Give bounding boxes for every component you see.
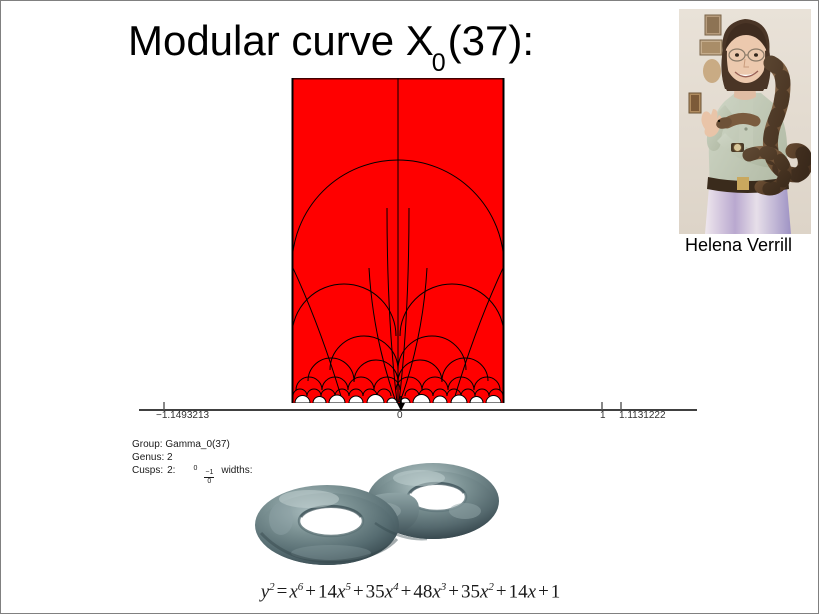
- equation-term-2-coef: 35: [366, 581, 385, 602]
- equation-term-0-var: x: [289, 581, 297, 602]
- genus-2-surface: [251, 453, 511, 571]
- equation-term-4-coef: 35: [461, 581, 480, 602]
- equation-term-3-var: x: [432, 581, 440, 602]
- equation-term-3-coef: 48: [413, 581, 432, 602]
- title-prefix: Modular curve X: [128, 17, 434, 64]
- cusps-value: 2:: [167, 464, 175, 477]
- curve-equation: y2=x6+14x5+35x4+48x3+35x2+14x+1: [1, 581, 819, 603]
- real-axis: [131, 396, 701, 432]
- cusp-fraction-numerator: −1: [204, 469, 214, 478]
- cusp-fraction-denominator: 0: [204, 478, 214, 486]
- curve-info-block: Group: Gamma_0(37) Genus: 2 Cusps: 2: 0 …: [132, 438, 252, 485]
- cusp-superscript-zero: 0: [193, 462, 197, 475]
- axis-tick-label-left: −1.1493213: [156, 410, 209, 421]
- equation-term-2-exp: 4: [393, 581, 399, 593]
- cusps-label: Cusps:: [132, 464, 163, 477]
- equation-term-2-var: x: [385, 581, 393, 602]
- photo-caption: Helena Verrill: [661, 235, 816, 256]
- title-subscript: 0: [432, 49, 446, 77]
- page-title: Modular curve X0(37):: [1, 17, 661, 80]
- equation-term-5-var: x: [528, 581, 536, 602]
- genus-line: Genus: 2: [132, 451, 252, 464]
- equation-lhs-exponent: 2: [269, 581, 275, 593]
- title-suffix: (37):: [448, 17, 534, 64]
- equation-term-6-coef: 1: [551, 581, 561, 602]
- equation-lhs: y: [261, 581, 269, 602]
- widths-label: widths:: [221, 464, 252, 477]
- cusps-line: Cusps: 2: 0 −1 0 widths:: [132, 464, 252, 485]
- axis-tick-label-right: 1.1131222: [619, 410, 666, 421]
- helena-verrill-photo: [679, 9, 811, 234]
- slide-canvas: Modular curve X0(37):: [0, 0, 819, 614]
- equation-term-5-coef: 14: [509, 581, 528, 602]
- fundamental-domain-plot: [291, 78, 505, 403]
- cusp-fraction: −1 0: [204, 469, 214, 486]
- axis-tick-label-zero: 0: [397, 410, 403, 421]
- axis-tick-label-one: 1: [600, 410, 606, 421]
- equation-term-1-coef: 14: [318, 581, 337, 602]
- group-line: Group: Gamma_0(37): [132, 438, 252, 451]
